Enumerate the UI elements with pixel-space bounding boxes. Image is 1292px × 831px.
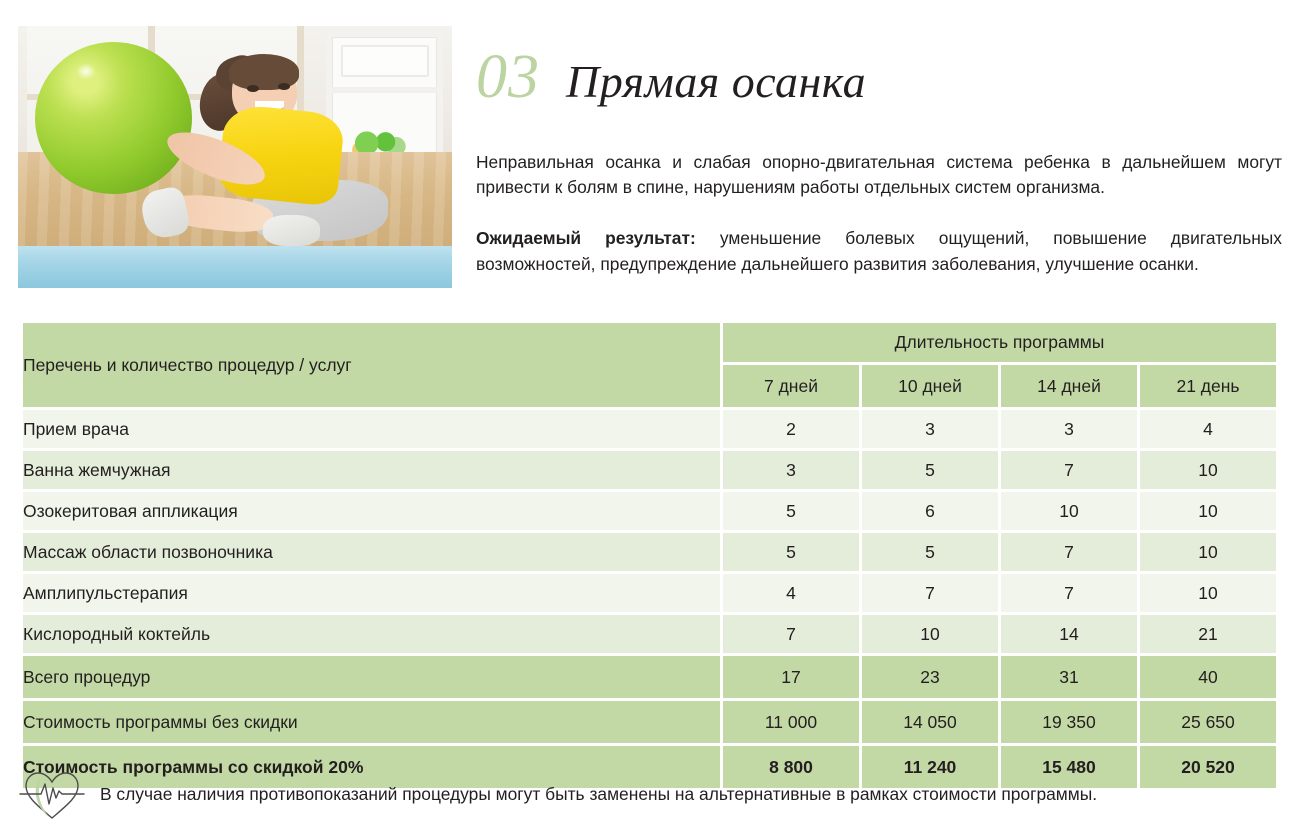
procedures-table-wrap: Перечень и количество процедур / услуг Д… <box>20 320 1272 791</box>
row-value: 3 <box>1001 410 1137 448</box>
row-value: 10 <box>1140 492 1276 530</box>
row-value: 4 <box>1140 410 1276 448</box>
row-value: 5 <box>862 533 998 571</box>
total-label: Всего процедур <box>23 656 720 698</box>
total-value: 23 <box>862 656 998 698</box>
price-label: Стоимость программы без скидки <box>23 701 720 743</box>
row-value: 3 <box>723 451 859 489</box>
row-value: 3 <box>862 410 998 448</box>
row-label: Прием врача <box>23 410 720 448</box>
footer-note-text: В случае наличия противопоказаний процед… <box>100 783 1097 806</box>
total-value: 31 <box>1001 656 1137 698</box>
row-label: Кислородный коктейль <box>23 615 720 653</box>
col-header-21days: 21 день <box>1140 365 1276 407</box>
row-label: Озокеритовая аппликация <box>23 492 720 530</box>
photo-child-sock <box>263 215 320 246</box>
row-value: 7 <box>723 615 859 653</box>
col-header-7days: 7 дней <box>723 365 859 407</box>
row-value: 2 <box>723 410 859 448</box>
row-value: 4 <box>723 574 859 612</box>
program-photo <box>18 26 452 288</box>
row-value: 7 <box>1001 533 1137 571</box>
total-value: 40 <box>1140 656 1276 698</box>
header-block: 03 Прямая осанка Неправильная осанка и с… <box>476 46 1276 277</box>
table-row: Кислородный коктейль 7 10 14 21 <box>23 615 1276 653</box>
price-value: 25 650 <box>1140 701 1276 743</box>
expected-result-label: Ожидаемый результат: <box>476 228 696 248</box>
photo-ball-highlight <box>76 63 96 80</box>
row-value: 5 <box>862 451 998 489</box>
table-row: Озокеритовая аппликация 5 6 10 10 <box>23 492 1276 530</box>
table-row-total: Всего процедур 17 23 31 40 <box>23 656 1276 698</box>
price-value: 14 050 <box>862 701 998 743</box>
table-row: Прием врача 2 3 3 4 <box>23 410 1276 448</box>
table-row: Амплипульстерапия 4 7 7 10 <box>23 574 1276 612</box>
section-number: 03 <box>476 46 540 108</box>
table-head: Перечень и количество процедур / услуг Д… <box>23 323 1276 407</box>
page-title-row: 03 Прямая осанка <box>476 46 1276 120</box>
expected-result-paragraph: Ожидаемый результат: уменьшение болевых … <box>476 226 1282 276</box>
photo-child-eye <box>278 83 290 90</box>
row-value: 7 <box>862 574 998 612</box>
row-value: 5 <box>723 492 859 530</box>
page-title: Прямая осанка <box>566 59 866 105</box>
table-row-price: Стоимость программы без скидки 11 000 14… <box>23 701 1276 743</box>
row-value: 10 <box>1001 492 1137 530</box>
table-header-row-group: Перечень и количество процедур / услуг Д… <box>23 323 1276 362</box>
row-value: 10 <box>1140 451 1276 489</box>
row-value: 14 <box>1001 615 1137 653</box>
top-section: 03 Прямая осанка Неправильная осанка и с… <box>0 0 1292 300</box>
program-page: 03 Прямая осанка Неправильная осанка и с… <box>0 0 1292 831</box>
table-row: Ванна жемчужная 3 5 7 10 <box>23 451 1276 489</box>
row-value: 7 <box>1001 451 1137 489</box>
row-value: 7 <box>1001 574 1137 612</box>
total-value: 17 <box>723 656 859 698</box>
table-body: Прием врача 2 3 3 4 Ванна жемчужная 3 5 … <box>23 410 1276 788</box>
col-header-10days: 10 дней <box>862 365 998 407</box>
footer-note: В случае наличия противопоказаний процед… <box>18 762 1278 826</box>
table-row: Массаж области позвоночника 5 5 7 10 <box>23 533 1276 571</box>
photo-child <box>148 52 408 272</box>
price-value: 19 350 <box>1001 701 1137 743</box>
row-value: 21 <box>1140 615 1276 653</box>
row-value: 10 <box>1140 574 1276 612</box>
row-value: 5 <box>723 533 859 571</box>
col-header-name: Перечень и количество процедур / услуг <box>23 323 720 407</box>
price-value: 11 000 <box>723 701 859 743</box>
row-label: Массаж области позвоночника <box>23 533 720 571</box>
row-value: 10 <box>862 615 998 653</box>
row-label: Амплипульстерапия <box>23 574 720 612</box>
row-value: 6 <box>862 492 998 530</box>
col-header-14days: 14 дней <box>1001 365 1137 407</box>
row-label: Ванна жемчужная <box>23 451 720 489</box>
heart-pulse-icon <box>18 764 86 824</box>
intro-paragraph: Неправильная осанка и слабая опорно-двиг… <box>476 150 1282 200</box>
col-header-group-duration: Длительность программы <box>723 323 1276 362</box>
row-value: 10 <box>1140 533 1276 571</box>
procedures-table: Перечень и количество процедур / услуг Д… <box>20 320 1279 791</box>
